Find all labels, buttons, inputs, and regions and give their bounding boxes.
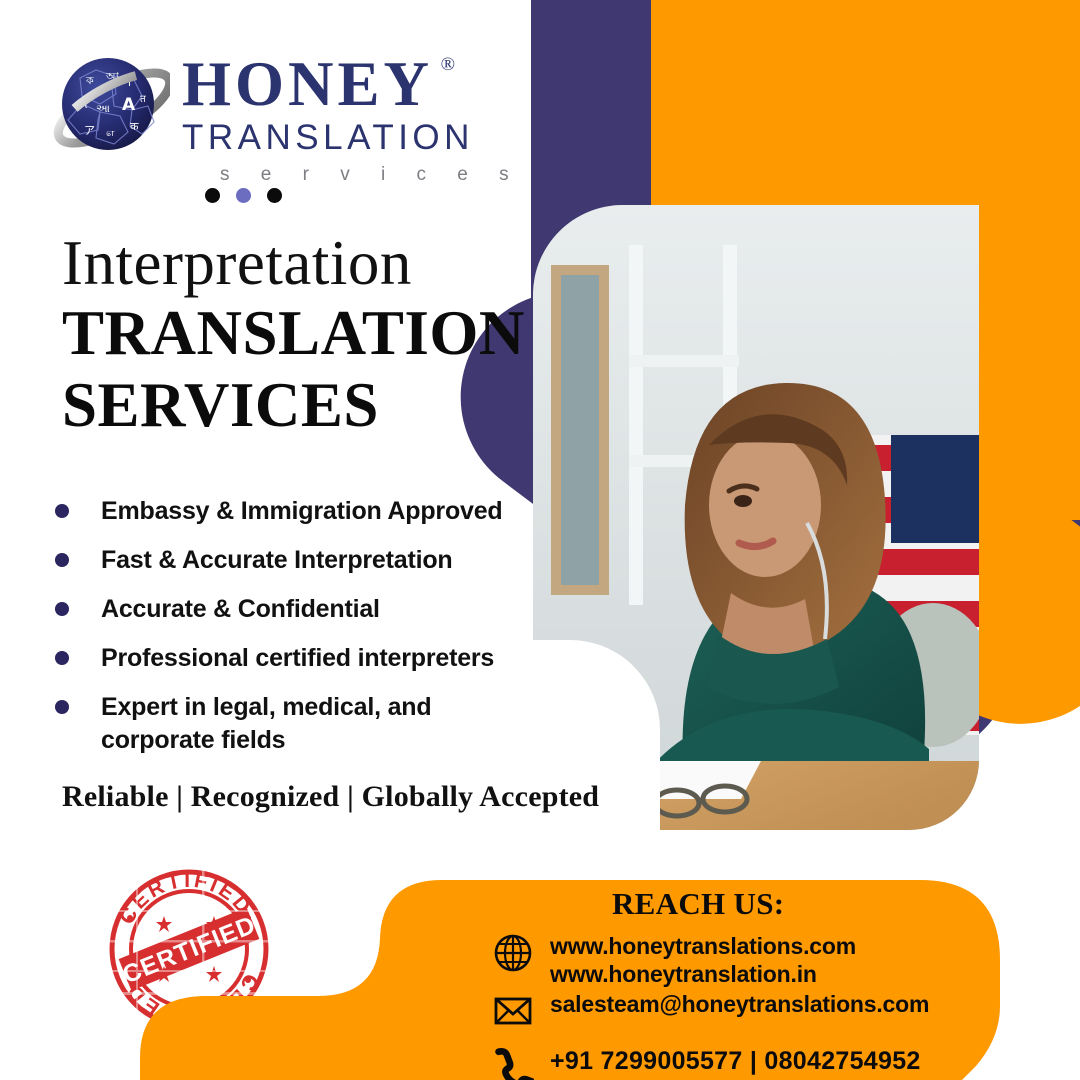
bullet-icon [55,553,69,567]
svg-text:क: क [130,120,139,133]
dot-left [205,188,220,203]
feature-text: Expert in legal, medical, and corporate … [101,691,451,757]
feature-list: Embassy & Immigration Approved Fast & Ac… [55,495,535,773]
bullet-icon [55,651,69,665]
feature-text: Embassy & Immigration Approved [101,495,503,528]
svg-text:எ: எ [106,126,115,139]
phone-text: +91 7299005577 | 08042754952 [550,1046,921,1077]
globe-logo-icon: ক আ ı અ આ A त ア எ क [52,48,170,166]
contact-row-phone[interactable]: +91 7299005577 | 08042754952 [492,1046,921,1080]
contact-panel: REACH US: www.honeytranslations.com www.… [140,868,1080,1080]
logo-name-tertiary: s e r v i c e s [220,164,522,186]
list-item: Accurate & Confidential [55,593,535,626]
logo-wordmark: HONEY ® TRANSLATION s e r v i c e s [182,48,522,186]
tagline: Reliable | Recognized | Globally Accepte… [62,780,599,814]
svg-text:A: A [122,95,136,115]
feature-text: Fast & Accurate Interpretation [101,544,452,577]
list-item: Fast & Accurate Interpretation [55,544,535,577]
contact-row-website[interactable]: www.honeytranslations.com www.honeytrans… [492,932,856,988]
svg-text:આ: આ [96,102,110,115]
envelope-icon [492,990,534,1032]
website-text: www.honeytranslations.com www.honeytrans… [550,932,856,988]
website-line-1: www.honeytranslations.com [550,933,856,959]
svg-text:ক: ক [85,74,94,87]
bullet-icon [55,700,69,714]
list-item: Embassy & Immigration Approved [55,495,535,528]
contact-row-email[interactable]: salesteam@honeytranslations.com [492,990,929,1032]
headline-bold-line-1: TRANSLATION [62,299,532,367]
decorative-dots [205,188,282,203]
website-line-2: www.honeytranslation.in [550,961,817,987]
phone-icon [492,1046,534,1080]
bullet-icon [55,504,69,518]
email-text: salesteam@honeytranslations.com [550,990,929,1018]
dot-center [236,188,251,203]
globe-icon [492,932,534,974]
svg-text:त: त [140,94,146,105]
brand-logo: ক আ ı અ આ A त ア எ क HONEY ® TRANSLATION [52,48,522,186]
headline-bold-line-2: SERVICES [62,371,532,439]
headline-script-line: Interpretation [62,232,532,295]
feature-text: Professional certified interpreters [101,642,494,675]
dot-right [267,188,282,203]
logo-name-primary: HONEY ® [182,54,433,116]
poster: ক আ ı અ આ A त ア எ क HONEY ® TRANSLATION [0,0,1080,1080]
svg-text:ア: ア [84,124,95,137]
logo-name-text: HONEY [182,49,433,119]
logo-name-secondary: TRANSLATION [182,118,522,158]
contact-heading: REACH US: [612,886,784,922]
list-item: Professional certified interpreters [55,642,535,675]
page-title: Interpretation TRANSLATION SERVICES [62,232,532,439]
bullet-icon [55,602,69,616]
list-item: Expert in legal, medical, and corporate … [55,691,535,757]
registered-trademark-icon: ® [441,56,455,75]
feature-text: Accurate & Confidential [101,593,380,626]
